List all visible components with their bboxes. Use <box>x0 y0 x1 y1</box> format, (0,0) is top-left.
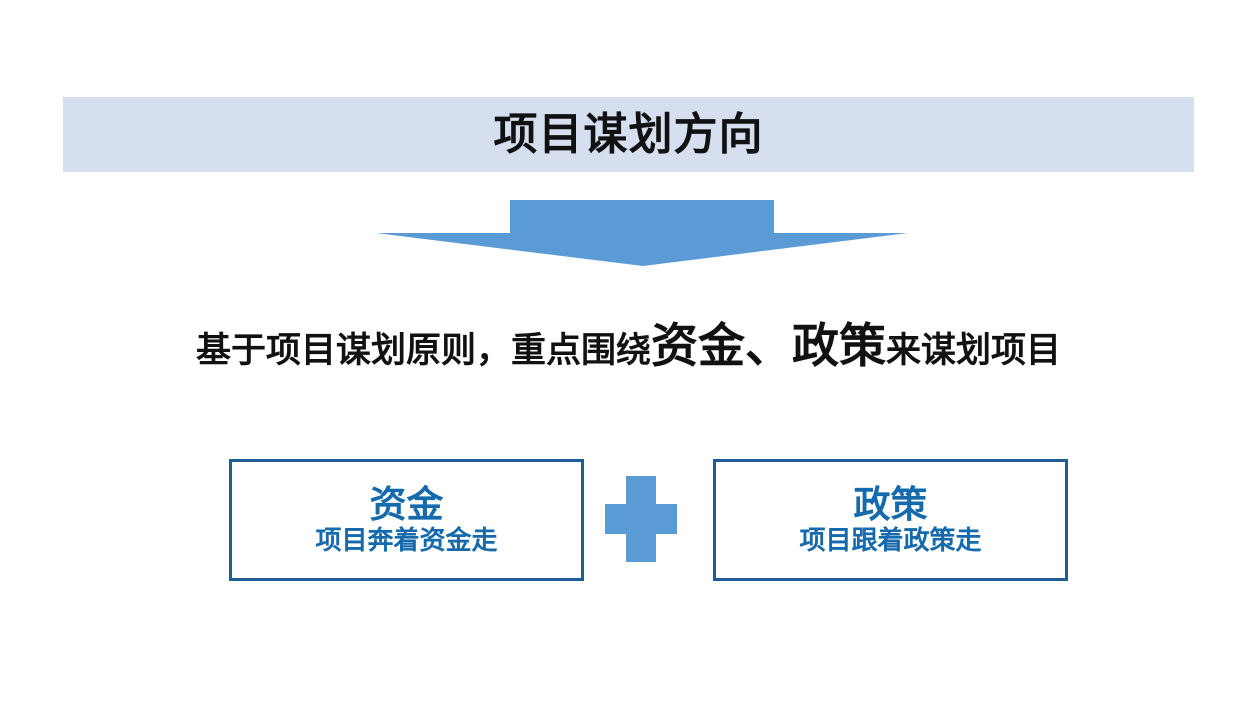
title-banner: 项目谋划方向 <box>63 97 1194 172</box>
main-statement: 基于项目谋划原则，重点围绕资金、政策来谋划项目 <box>0 322 1257 369</box>
plus-icon <box>605 476 677 562</box>
arrow-down-icon <box>376 200 908 266</box>
statement-suffix: 来谋划项目 <box>886 331 1061 370</box>
plus-icon-vertical-bar <box>626 476 656 562</box>
concept-box-funding-subtitle: 项目奔着资金走 <box>315 527 497 554</box>
statement-emphasis: 资金、政策 <box>651 319 886 372</box>
concept-box-funding-heading: 资金 <box>370 486 444 525</box>
concept-box-policy-heading: 政策 <box>854 486 928 525</box>
page-title: 项目谋划方向 <box>494 113 764 157</box>
concept-box-funding[interactable]: 资金 项目奔着资金走 <box>229 459 584 581</box>
slide-canvas: 项目谋划方向 基于项目谋划原则，重点围绕资金、政策来谋划项目 资金 项目奔着资金… <box>0 0 1257 716</box>
concept-box-policy-subtitle: 项目跟着政策走 <box>799 527 981 554</box>
concept-box-policy[interactable]: 政策 项目跟着政策走 <box>713 459 1068 581</box>
statement-prefix: 基于项目谋划原则，重点围绕 <box>196 331 651 370</box>
